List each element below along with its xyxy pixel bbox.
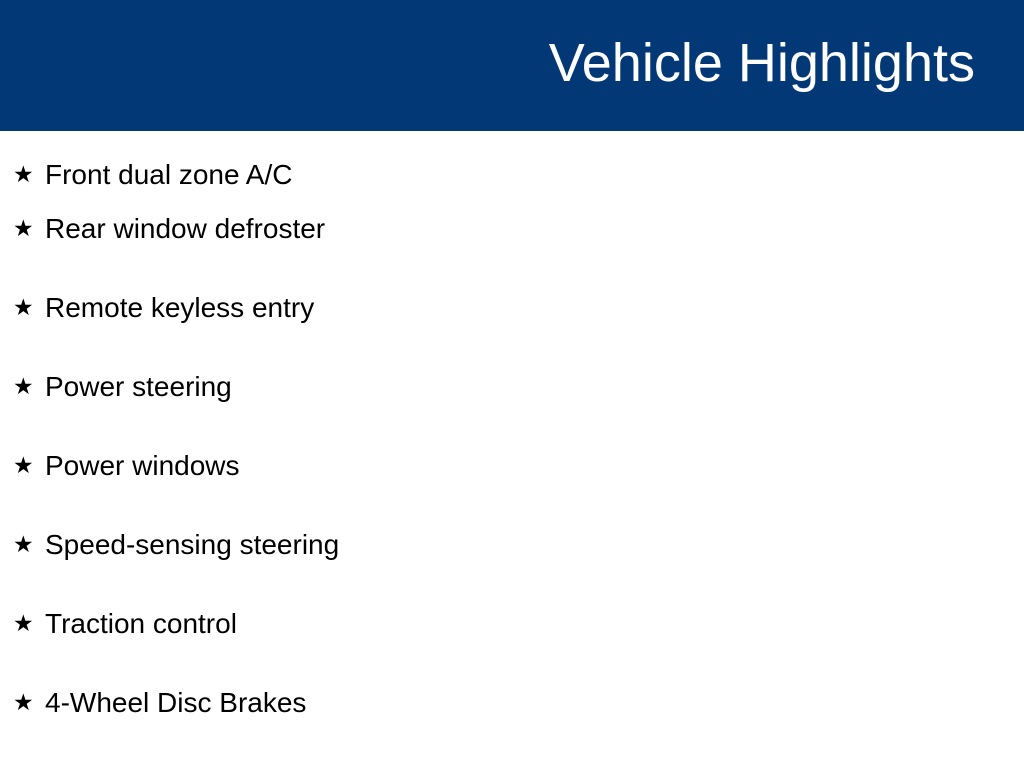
page-title: Vehicle Highlights xyxy=(549,30,975,96)
star-bullet-icon: ★ xyxy=(13,156,34,194)
list-item: ★ Front dual zone A/C xyxy=(0,131,1024,210)
list-item: ★ Power steering xyxy=(0,368,1024,447)
list-item: ★ Speed-sensing steering xyxy=(0,526,1024,605)
list-item: ★ Power windows xyxy=(0,447,1024,526)
list-item-label: Power windows xyxy=(45,447,240,485)
list-item-label: Speed-sensing steering xyxy=(45,526,339,564)
star-bullet-icon: ★ xyxy=(13,368,34,406)
list-item-label: 4-Wheel Disc Brakes xyxy=(45,684,306,722)
list-item: ★ Rear window defroster xyxy=(0,210,1024,289)
star-bullet-icon: ★ xyxy=(13,684,34,722)
star-bullet-icon: ★ xyxy=(13,210,34,248)
star-bullet-icon: ★ xyxy=(13,605,34,643)
list-item: ★ Traction control xyxy=(0,605,1024,684)
vehicle-highlights-list: ★ Front dual zone A/C ★ Rear window defr… xyxy=(0,131,1024,763)
slide-header-bar: Vehicle Highlights xyxy=(0,0,1024,131)
list-item-label: Power steering xyxy=(45,368,232,406)
list-item-label: Front dual zone A/C xyxy=(45,156,292,194)
list-item: ★ 4-Wheel Disc Brakes xyxy=(0,684,1024,763)
list-item-label: Traction control xyxy=(45,605,237,643)
list-item-label: Remote keyless entry xyxy=(45,289,314,327)
star-bullet-icon: ★ xyxy=(13,526,34,564)
slide-canvas: Vehicle Highlights ★ Front dual zone A/C… xyxy=(0,0,1024,768)
list-item-label: Rear window defroster xyxy=(45,210,325,248)
list-item: ★ Remote keyless entry xyxy=(0,289,1024,368)
star-bullet-icon: ★ xyxy=(13,447,34,485)
star-bullet-icon: ★ xyxy=(13,289,34,327)
